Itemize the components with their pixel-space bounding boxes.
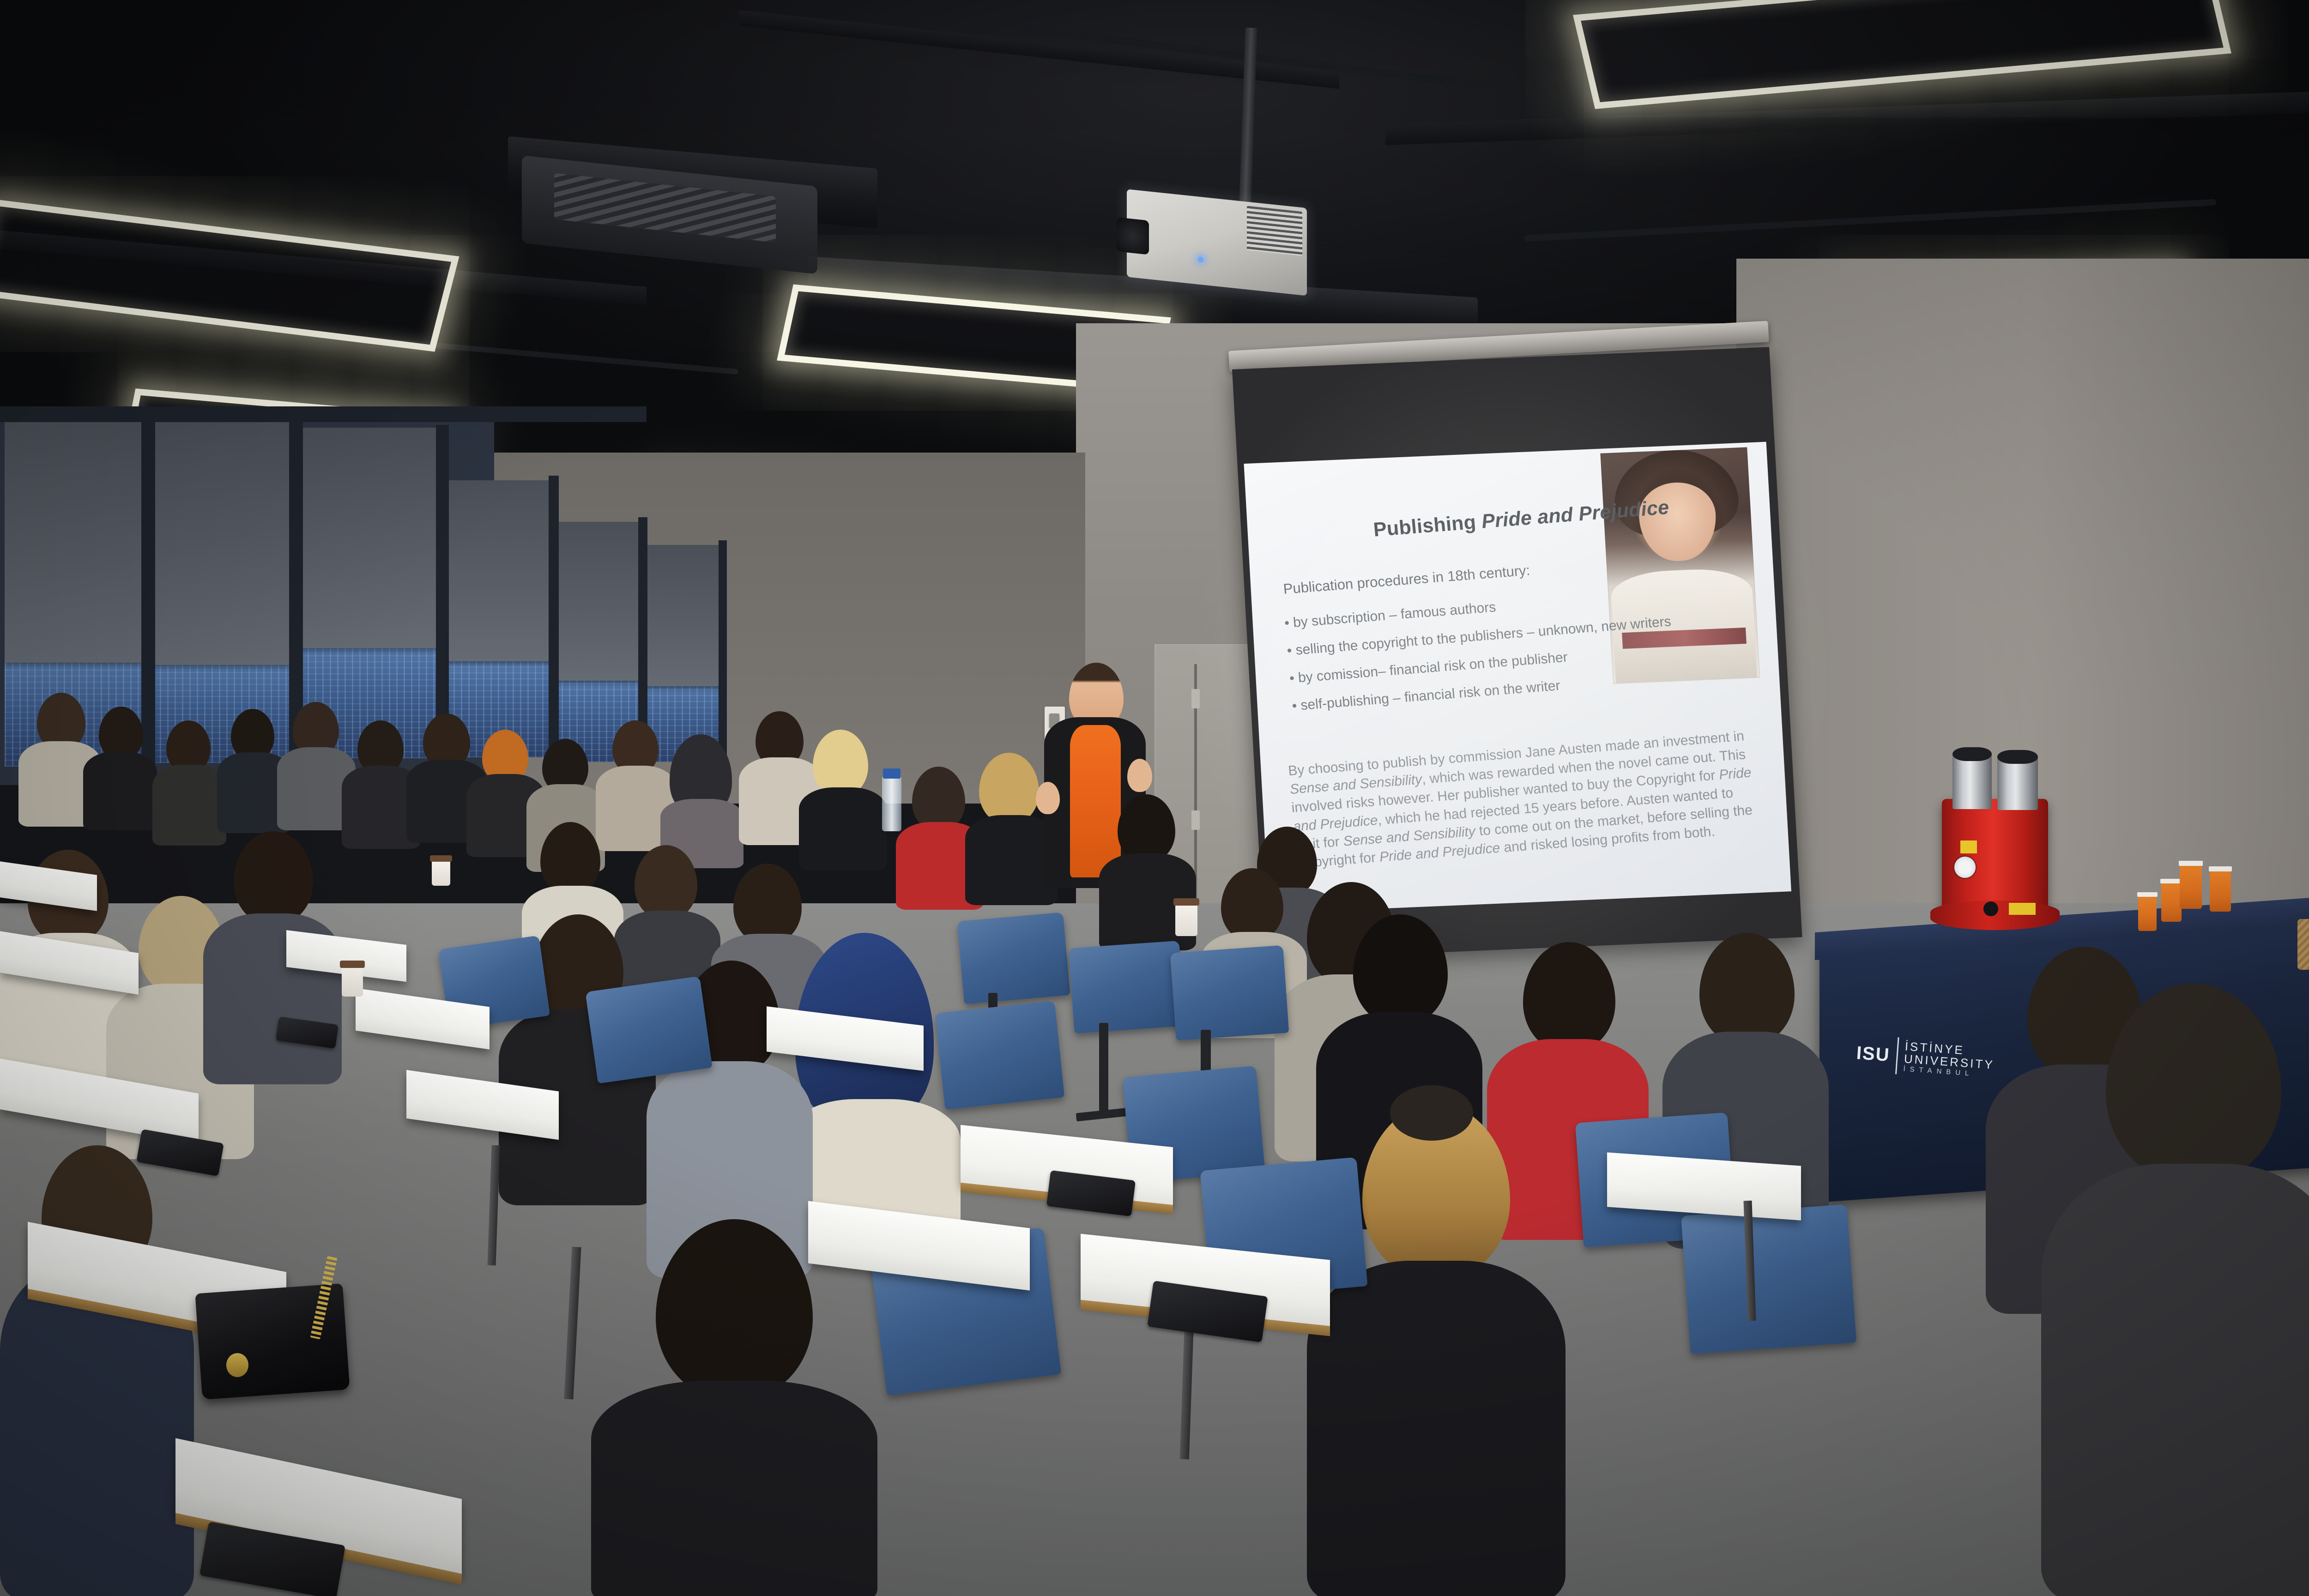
lecture-hall-photo: Publishing Pride and Prejudice Publicati…: [0, 0, 2309, 1596]
head: [1699, 933, 1795, 1046]
torso: [799, 787, 887, 871]
head: [1118, 794, 1175, 863]
paper-cup-stack: [2180, 864, 2202, 909]
teapot: [1997, 756, 2038, 810]
samovar-temperature-gauge-icon: [1954, 857, 1976, 878]
paper-cup-stack: [2138, 895, 2157, 931]
window-mullion: [436, 425, 449, 762]
chair[interactable]: [935, 1001, 1065, 1110]
paper-cup-rim: [2160, 879, 2182, 883]
coffee-cup-lid: [340, 961, 365, 968]
window-blind[interactable]: [645, 545, 723, 686]
window-blind[interactable]: [446, 480, 552, 661]
projector-vent-icon: [1247, 206, 1302, 256]
head: [635, 845, 697, 920]
torso: [1307, 1261, 1566, 1596]
teapot-lid: [1997, 750, 2038, 764]
audience-member-foreground: [0, 1145, 194, 1596]
torso: [591, 1381, 877, 1596]
teapot-lid: [1952, 747, 1992, 761]
teapot: [1952, 754, 1992, 809]
coffee-cup[interactable]: [1175, 903, 1197, 936]
window-mullion: [549, 476, 559, 762]
slide-bullet-list: by subscription – famous authors selling…: [1284, 586, 1678, 726]
speaker-hand: [1127, 759, 1152, 792]
projector-lens-icon: [1117, 217, 1149, 254]
paper-cup-stack: [2210, 870, 2231, 912]
window-blind[interactable]: [554, 522, 642, 681]
window-blind[interactable]: [300, 428, 439, 648]
audience-member-foreground: [2041, 984, 2309, 1596]
head: [979, 753, 1039, 824]
slide-paragraph: By choosing to publish by commission Jan…: [1287, 726, 1762, 873]
head: [540, 822, 600, 895]
audience-member: [152, 720, 226, 840]
head: [912, 767, 965, 831]
slide-title-prefix: Publishing: [1372, 511, 1483, 541]
head: [1523, 942, 1615, 1052]
wall-panel-hinge: [1191, 689, 1200, 708]
chair-frame: [1099, 1023, 1108, 1115]
window-mullion: [719, 540, 727, 767]
isu-divider: [1895, 1037, 1899, 1074]
speaker-hand: [1036, 782, 1060, 814]
samovar-warning-label: [1960, 840, 1977, 853]
chair[interactable]: [1681, 1204, 1856, 1354]
chair[interactable]: [585, 976, 712, 1084]
projector-power-led-icon: [1198, 257, 1203, 262]
tea-samovar: [1942, 799, 2048, 914]
window-head-rail: [0, 406, 647, 422]
paper-cup-rim: [2137, 892, 2158, 897]
coffee-cup[interactable]: [342, 965, 363, 997]
slide-lead-line: Publication procedures in 18th century:: [1282, 562, 1530, 598]
window-blind[interactable]: [152, 421, 291, 665]
paper-cup-rim: [2179, 861, 2203, 866]
audience-member-foreground: [591, 1219, 877, 1596]
coffee-cup-lid: [1173, 898, 1199, 906]
coffee-cup-lid: [430, 855, 452, 862]
head: [733, 864, 802, 944]
audience-member-blonde: [799, 730, 887, 868]
hair-bun: [1390, 1085, 1473, 1141]
window-blind[interactable]: [5, 416, 143, 663]
portrait-face: [1638, 481, 1718, 563]
torso: [2041, 1164, 2309, 1596]
paper-cup-rim: [2209, 866, 2232, 871]
chair[interactable]: [1170, 945, 1289, 1041]
bottle-cap: [883, 768, 901, 779]
chair[interactable]: [1069, 941, 1185, 1034]
isu-mark: ISU: [1856, 1043, 1891, 1066]
torso: [83, 752, 157, 830]
audience-member: [83, 707, 157, 827]
water-bottle[interactable]: [882, 776, 901, 831]
samovar-warning-label: [2009, 903, 2036, 915]
head: [2106, 984, 2281, 1182]
samovar-power-knob[interactable]: [1983, 901, 1998, 916]
coffee-cup[interactable]: [432, 859, 450, 886]
handbag-clasp-icon: [226, 1353, 248, 1377]
head: [1353, 914, 1448, 1025]
head: [234, 831, 313, 925]
chair[interactable]: [957, 912, 1070, 1004]
paper-cup-stack: [2161, 882, 2182, 922]
head: [813, 730, 868, 797]
audience-member-hijab: [660, 734, 743, 864]
head: [656, 1219, 813, 1399]
snack-basket: [2297, 919, 2309, 970]
head: [1221, 868, 1283, 941]
